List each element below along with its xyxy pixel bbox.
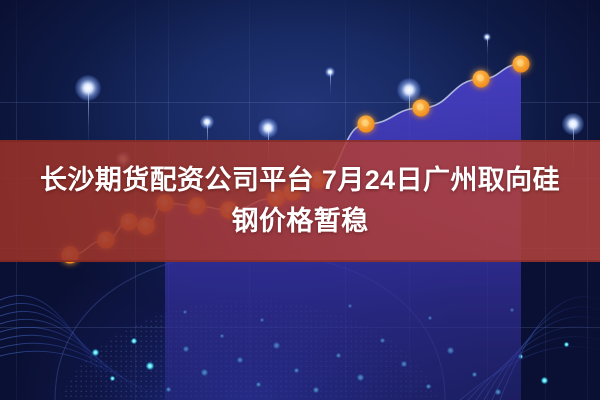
data-point-marker xyxy=(513,56,530,73)
data-point-marker xyxy=(358,116,375,133)
headline-banner: 长沙期货配资公司平台 7月24日广州取向硅钢价格暂稳 xyxy=(0,140,600,262)
headline-text: 长沙期货配资公司平台 7月24日广州取向硅钢价格暂稳 xyxy=(30,160,570,242)
data-point-marker xyxy=(473,71,490,88)
promo-banner-image: 长沙期货配资公司平台 7月24日广州取向硅钢价格暂稳 xyxy=(0,0,600,400)
banner-top-edge xyxy=(0,140,600,142)
banner-bottom-edge xyxy=(0,260,600,262)
data-point-marker xyxy=(413,100,430,117)
